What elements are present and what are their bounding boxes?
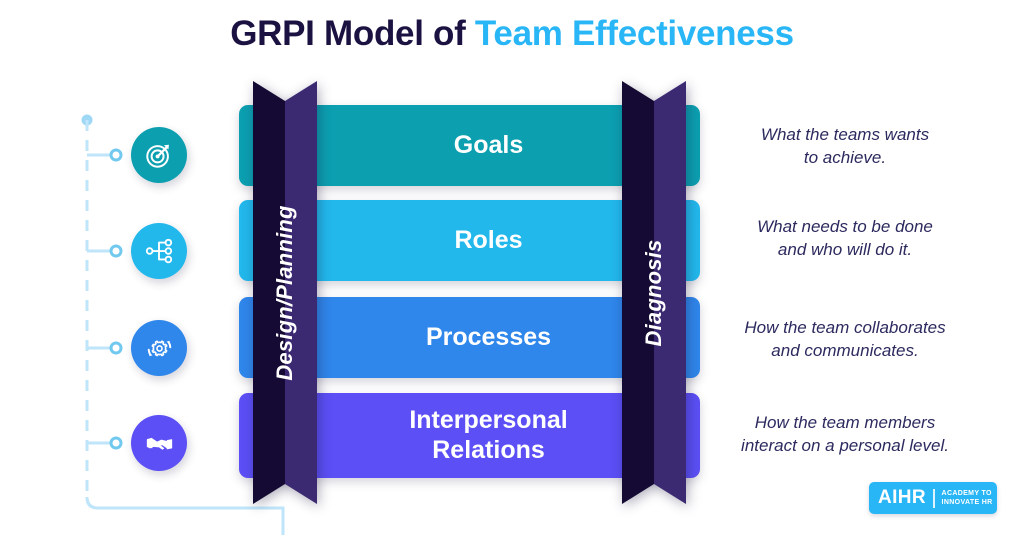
bar-label-4: Interpersonal Relations xyxy=(371,406,567,465)
logo-tagline-line2: INNOVATE HR xyxy=(942,499,993,506)
bar-label-1: Goals xyxy=(416,131,523,161)
description-goals: What the teams wants to achieve. xyxy=(714,124,976,169)
connector-branch-1 xyxy=(87,150,121,160)
ribbon-diagnosis[interactable]: Diagnosis xyxy=(622,81,686,504)
title-accent-text: Team Effectiveness xyxy=(475,14,794,53)
logo-tagline: ACADEMY TOINNOVATE HR xyxy=(942,489,993,508)
handshake-icon xyxy=(144,428,175,459)
connector-branch-3 xyxy=(87,343,121,353)
description-processes: How the team collaborates and communicat… xyxy=(714,317,976,362)
description-roles: What needs to be done and who will do it… xyxy=(714,216,976,261)
connector-branch-4 xyxy=(87,438,121,448)
aihr-logo[interactable]: AIHR ACADEMY TOINNOVATE HR xyxy=(869,482,997,514)
target-arrow-icon xyxy=(144,140,174,170)
connector-branch-2 xyxy=(87,246,121,256)
logo-wordmark: AIHR xyxy=(869,487,926,509)
description-interpersonal: How the team members interact on a perso… xyxy=(714,412,976,457)
infographic-canvas: GRPI Model of Team Effectiveness xyxy=(0,0,1024,535)
gear-cycle-icon xyxy=(144,333,175,364)
ribbon-label-design-planning: Design/Planning xyxy=(272,205,298,380)
icon-circle-processes[interactable] xyxy=(131,320,187,376)
ribbon-label-diagnosis: Diagnosis xyxy=(641,239,667,346)
icon-circle-roles[interactable] xyxy=(131,223,187,279)
logo-divider xyxy=(933,489,935,508)
org-chart-icon xyxy=(144,236,174,266)
bar-label-3: Processes xyxy=(388,323,551,353)
logo-tagline-line1: ACADEMY TO xyxy=(942,490,992,497)
bar-label-2: Roles xyxy=(416,226,522,256)
ribbon-design-planning[interactable]: Design/Planning xyxy=(253,81,317,504)
icon-circle-interpersonal[interactable] xyxy=(131,415,187,471)
icon-circle-goals[interactable] xyxy=(131,127,187,183)
